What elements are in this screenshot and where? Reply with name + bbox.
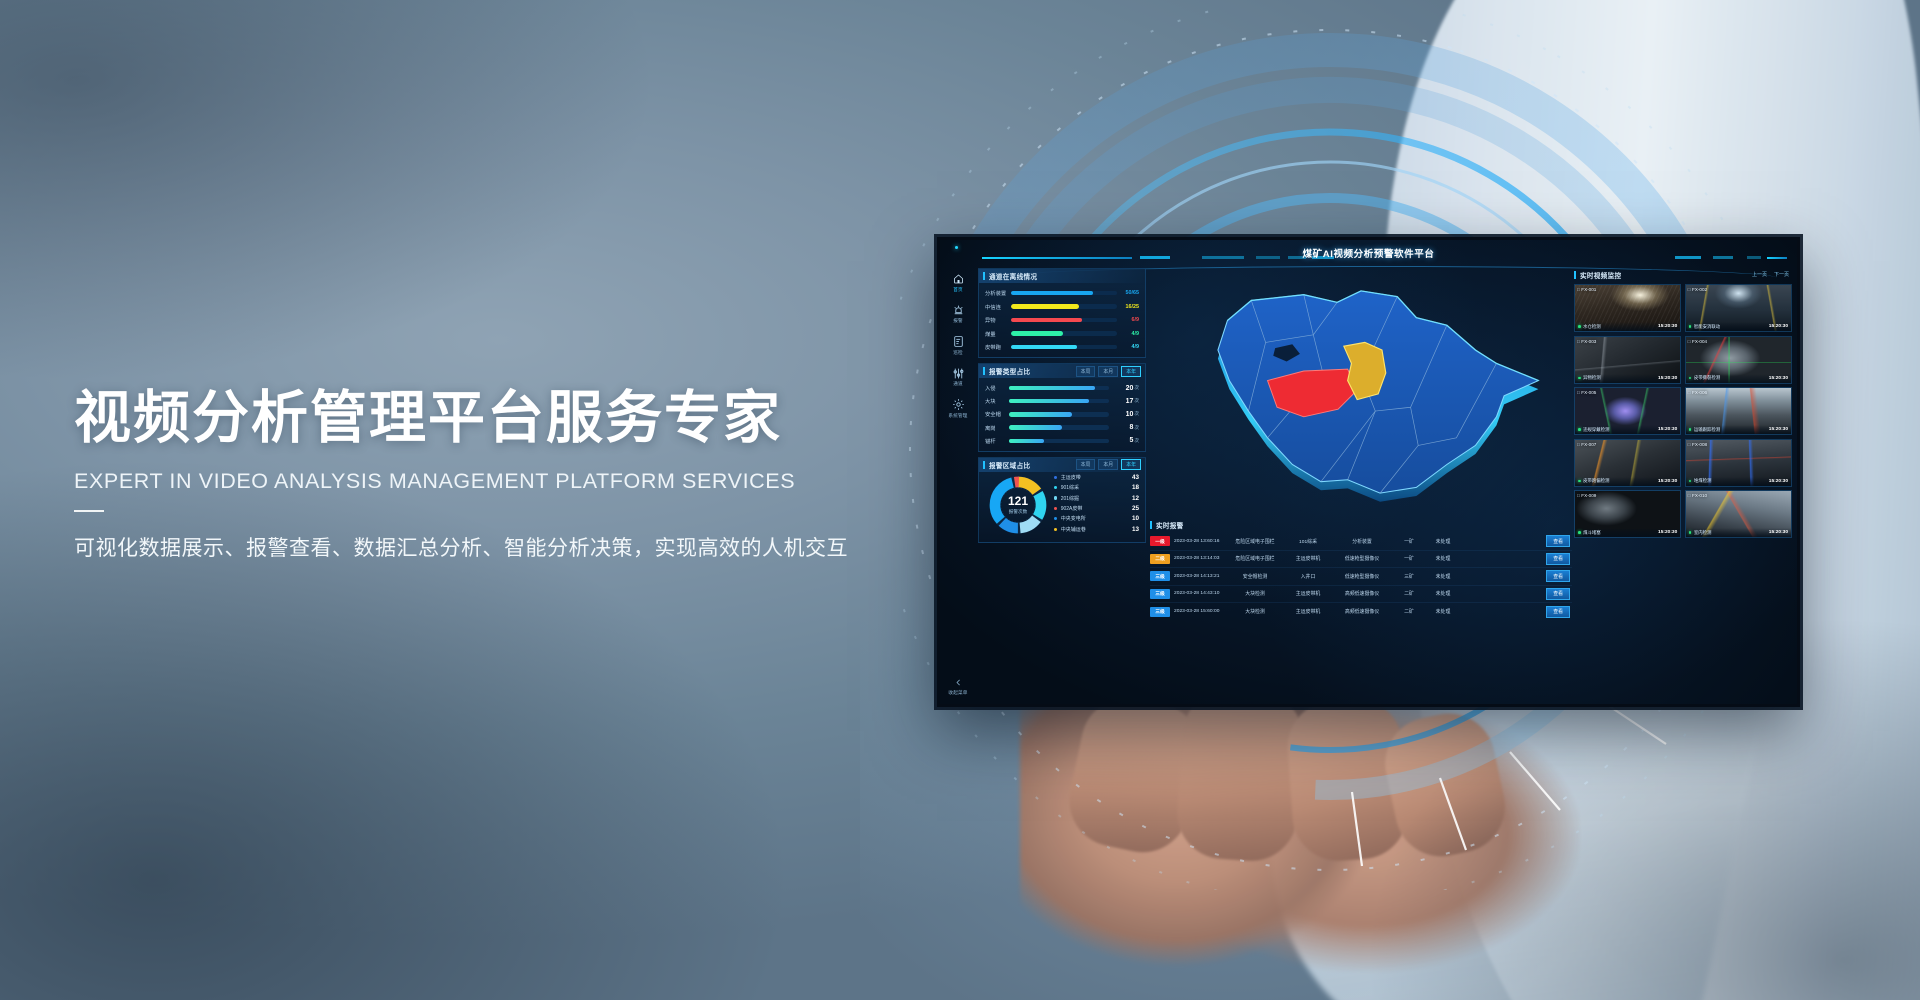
panel-accent-bar [983,461,985,469]
camera-name: 室内检测 [1694,530,1712,536]
legend-value: 10 [1125,515,1139,522]
channel-value: 16/25 [1117,304,1139,310]
camera-name: 运输跟踪检测 [1694,427,1720,433]
alarm-type-label: 离岗 [985,424,1009,432]
donut-total-value: 121 [1008,495,1028,507]
cell-type: 危险区域电子围栏 [1226,555,1284,562]
camera-id: FX-007 [1577,442,1596,447]
video-caption: 异物检测 15:20:30 [1575,374,1680,383]
video-cell[interactable]: FX-008 堆煤检测 15:20:30 [1685,439,1792,487]
prev-page-button[interactable]: 上一页 [1752,271,1767,278]
legend-dot [1054,507,1057,510]
alarm-type-track [1009,412,1109,416]
alarm-type-unit: 次 [1134,438,1139,444]
cell-device: 低速枪型摄像仪 [1332,573,1392,580]
legend-dot [1054,528,1057,531]
camera-id: FX-001 [1577,287,1596,292]
legend-item: 中央辅运巷 13 [1054,526,1139,533]
hero-divider [74,510,104,512]
cell-time: 2023-03-28 14:43:10 [1174,591,1226,596]
alarm-area-header: 报警区域占比 本周 本月 本年 [979,458,1145,472]
alarm-type-fill [1009,439,1044,443]
legend-value: 43 [1125,474,1139,481]
sidebar-item-system[interactable]: 系统管理 [940,398,976,419]
channel-value: 6/9 [1117,317,1139,323]
alarm-type-unit: 次 [1134,398,1139,404]
hero-subtitle: EXPERT IN VIDEO ANALYSIS MANAGEMENT PLAT… [74,469,934,494]
alarm-type-panel: 报警类型占比 本周 本月 本年 入侵 20 次 大块 17 [978,363,1146,452]
channel-value: 4/9 [1117,344,1139,350]
camera-name: 皮带跑偏检测 [1583,478,1609,484]
channel-label: 异物 [985,316,1011,324]
video-monitor-column: 实时视频监控 上一页 下一页 FX-001 水仓检测 15:20:30 [1574,268,1792,699]
alarm-type-row: 离岗 8 次 [985,424,1139,432]
channel-bar-track [1011,304,1117,309]
header-line-right [1767,257,1787,259]
alarm-type-fill [1009,412,1072,416]
tab-week[interactable]: 本周 [1076,366,1096,377]
alarm-type-row: 锚杆 5 次 [985,437,1139,445]
channel-bar-fill [1011,331,1063,336]
video-caption: 皮带跑偏检测 15:20:30 [1575,477,1680,486]
sidebar-item-alarm[interactable]: 报警 [940,304,976,325]
camera-name: 违规穿戴检测 [1583,427,1609,433]
online-dot [1689,480,1692,483]
camera-id: FX-003 [1577,339,1596,344]
realtime-alarm-title: 实时报警 [1156,520,1184,530]
view-button[interactable]: 查看 [1546,553,1570,565]
cell-mine: 一矿 [1392,555,1426,562]
channel-row: 中信连 16/25 [985,303,1139,311]
camera-time: 15:20:30 [1658,376,1677,381]
sidebar-label-home: 首页 [940,287,976,293]
legend-item: 201综掘 12 [1054,495,1139,502]
channel-status-panel: 通道在离线情况 分析装置 50/65 中信连 16/25 异物 6/9 [978,268,1146,358]
legend-name: 901综采 [1061,484,1125,491]
view-button[interactable]: 查看 [1546,606,1570,618]
cell-channel: 主运皮带机 [1284,590,1332,597]
sidebar-collapse-label: 收起菜单 [940,690,976,696]
inspection-clipboard-icon [940,335,976,348]
video-caption: 水仓检测 15:20:30 [1575,322,1680,331]
video-cell[interactable]: FX-009 煤斗堵塞 15:20:30 [1574,490,1681,538]
alarm-type-value: 20 [1109,385,1133,392]
alarm-area-tabs: 本周 本月 本年 [1076,459,1145,470]
sidebar-label-inspection: 巡检 [940,350,976,356]
status-badge: 二级 [1150,554,1170,564]
alarm-type-fill [1009,425,1062,429]
cell-type: 安全帽检测 [1226,573,1284,580]
video-cell[interactable]: FX-003 异物检测 15:20:30 [1574,336,1681,384]
cell-time: 2023-03-28 13:14:03 [1174,556,1226,561]
cell-device: 高频低速摄像仪 [1332,590,1392,597]
camera-time: 15:20:30 [1658,427,1677,432]
alarm-type-value: 10 [1109,411,1133,418]
realtime-alarm-table: 一级 2023-03-28 13:60:16 危险区域电子围栏 101综采 分析… [1150,533,1572,621]
legend-value: 25 [1125,505,1139,512]
legend-name: 中央辅运巷 [1061,526,1125,533]
home-icon [940,273,976,285]
tab-month[interactable]: 本月 [1098,459,1118,470]
cell-status: 未处理 [1426,573,1460,580]
alarm-type-label: 入侵 [985,384,1009,392]
online-dot [1689,377,1692,380]
dashboard-monitor: 煤矿AI视频分析预警软件平台 首页 报警 [937,237,1800,707]
dashboard-title: 煤矿AI视频分析预警软件平台 [940,246,1797,260]
header-dash-6 [1675,256,1701,259]
video-grid: FX-001 水仓检测 15:20:30 FX-002 智能安消联动 15:20… [1574,284,1792,538]
legend-value: 13 [1125,526,1139,533]
channel-bar-track [1011,331,1117,336]
camera-name: 智能安消联动 [1694,324,1720,330]
channel-bar-fill [1011,291,1093,296]
cell-channel: 主运皮带机 [1284,555,1332,562]
online-dot [1578,531,1581,534]
next-page-button[interactable]: 下一页 [1774,271,1789,278]
channel-bar-track [1011,345,1117,350]
panel-accent-bar [1574,271,1576,279]
channel-row: 皮带跑 4/9 [985,343,1139,351]
video-cell[interactable]: FX-005 违规穿戴检测 15:20:30 [1574,387,1681,435]
video-cell[interactable]: FX-001 水仓检测 15:20:30 [1574,284,1681,332]
channel-label: 皮带跑 [985,343,1011,351]
alarm-area-title: 报警区域占比 [989,460,1030,470]
cell-time: 2023-03-28 14:13:21 [1174,574,1226,579]
table-row[interactable]: 二级 2023-03-28 13:14:03 危险区域电子围栏 主运皮带机 低速… [1150,551,1572,569]
cell-mine: 三矿 [1392,573,1426,580]
channel-bar-fill [1011,304,1079,309]
channel-label: 中信连 [985,303,1011,311]
sidebar-label-channel: 通道 [940,381,976,387]
page-title: 视频分析管理平台服务专家 [74,385,934,452]
alarm-type-header: 报警类型占比 本周 本月 本年 [979,364,1145,378]
status-badge: 三级 [1150,571,1170,581]
table-row[interactable]: 一级 2023-03-28 13:60:16 危险区域电子围栏 101综采 分析… [1150,533,1572,551]
tab-month[interactable]: 本月 [1098,366,1118,377]
online-dot [1689,325,1692,328]
panel-accent-bar [983,272,985,280]
camera-name: 异物检测 [1583,375,1601,381]
panel-accent-bar [983,367,985,375]
alarm-type-row: 入侵 20 次 [985,384,1139,392]
alarm-type-unit: 次 [1134,425,1139,431]
channel-row: 煤量 4/9 [985,330,1139,338]
camera-id: FX-006 [1688,390,1707,395]
cell-device: 低速枪型摄像仪 [1332,555,1392,562]
cell-type: 危险区域电子围栏 [1226,538,1284,545]
channel-value: 4/9 [1117,331,1139,337]
cell-status: 未处理 [1426,538,1460,545]
panel-accent-bar [1150,521,1152,529]
cell-channel: 101综采 [1284,538,1332,545]
table-row[interactable]: 三级 2023-03-28 14:43:10 大块检测 主运皮带机 高频低速摄像… [1150,586,1572,604]
legend-dot [1054,517,1057,520]
sidebar-label-system: 系统管理 [940,413,976,419]
legend-name: 201综掘 [1061,495,1125,502]
alarm-type-label: 安全帽 [985,410,1009,418]
alarm-bell-icon [940,304,976,317]
camera-name: 煤斗堵塞 [1583,530,1601,536]
camera-name: 堆煤检测 [1694,478,1712,484]
camera-time: 15:20:30 [1769,427,1788,432]
alarm-type-row: 安全帽 10 次 [985,410,1139,418]
legend-item: 901综采 18 [1054,484,1139,491]
video-panel-title: 实时视频监控 [1580,270,1621,280]
video-caption: 堆煤检测 15:20:30 [1686,477,1791,486]
camera-time: 15:20:30 [1658,479,1677,484]
legend-name: 中央变电所 [1061,515,1125,522]
sidebar-item-channel[interactable]: 通道 [940,367,976,388]
camera-id: FX-010 [1688,493,1707,498]
alarm-area-panel: 报警区域占比 本周 本月 本年 [978,457,1146,543]
alarm-type-label: 大块 [985,397,1009,405]
camera-time: 15:20:30 [1769,376,1788,381]
status-badge: 三级 [1150,607,1170,617]
cell-time: 2023-03-28 15:60:00 [1174,609,1226,614]
alarm-type-track [1009,425,1109,429]
alarm-type-track [1009,439,1109,443]
legend-dot [1054,496,1057,499]
alarm-type-track [1009,386,1109,390]
video-caption: 智能安消联动 15:20:30 [1686,322,1791,331]
online-dot [1689,428,1692,431]
legend-item: 主运皮带 43 [1054,474,1139,481]
alarm-type-row: 大块 17 次 [985,397,1139,405]
alarm-type-label: 锚杆 [985,437,1009,445]
video-caption: 煤斗堵塞 15:20:30 [1575,528,1680,537]
channel-label: 煤量 [985,330,1011,338]
cell-device: 分析装置 [1332,538,1392,545]
video-cell[interactable]: FX-006 运输跟踪检测 15:20:30 [1685,387,1792,435]
online-dot [1578,428,1581,431]
video-caption: 运输跟踪检测 15:20:30 [1686,425,1791,434]
collapse-icon [954,683,963,689]
sidebar: 首页 报警 巡检 通道 [940,262,976,704]
legend-dot [1054,486,1057,489]
video-caption: 皮带撕裂检测 15:20:30 [1686,374,1791,383]
channel-bar-track [1011,318,1117,323]
camera-name: 水仓检测 [1583,324,1601,330]
channel-panel-header: 通道在离线情况 [979,269,1145,283]
online-dot [1578,325,1581,328]
dashboard-screen: 煤矿AI视频分析预警软件平台 首页 报警 [940,240,1797,704]
channel-sliders-icon [940,367,976,380]
camera-id: FX-008 [1688,442,1707,447]
alarm-type-title: 报警类型占比 [989,366,1030,376]
header-dash-8 [1747,256,1761,259]
online-dot [1578,480,1581,483]
cell-status: 未处理 [1426,608,1460,615]
video-caption: 室内检测 15:20:30 [1686,528,1791,537]
online-dot [1689,531,1692,534]
channel-value: 50/65 [1117,290,1139,296]
camera-name: 皮带撕裂检测 [1694,375,1720,381]
sidebar-item-home[interactable]: 首页 [940,273,976,293]
cell-type: 大块检测 [1226,608,1284,615]
alarm-type-value: 17 [1109,398,1133,405]
alarm-type-unit: 次 [1134,385,1139,391]
camera-id: FX-005 [1577,390,1596,395]
channel-row: 分析装置 50/65 [985,289,1139,297]
camera-id: FX-002 [1688,287,1707,292]
video-cell[interactable]: FX-002 智能安消联动 15:20:30 [1685,284,1792,332]
alarm-type-track [1009,399,1109,403]
cell-device: 高频低速摄像仪 [1332,608,1392,615]
legend-item: 902A皮带 25 [1054,505,1139,512]
center-column: 实时报警 一级 2023-03-28 13:60:16 危险区域电子围栏 101… [1150,268,1572,699]
realtime-alarm-panel: 实时报警 一级 2023-03-28 13:60:16 危险区域电子围栏 101… [1150,518,1572,699]
video-cell[interactable]: FX-004 皮带撕裂检测 15:20:30 [1685,336,1792,384]
online-dot [1578,377,1581,380]
camera-time: 15:20:30 [1769,530,1788,535]
cell-mine: 二矿 [1392,590,1426,597]
view-button[interactable]: 查看 [1546,535,1570,547]
dashboard-header: 煤矿AI视频分析预警软件平台 [940,240,1797,270]
cell-channel: 入井口 [1284,573,1332,580]
legend-name: 902A皮带 [1061,505,1125,512]
view-button[interactable]: 查看 [1546,570,1570,582]
alarm-type-fill [1009,386,1095,390]
camera-time: 15:20:30 [1769,324,1788,329]
camera-id: FX-009 [1577,493,1596,498]
cell-mine: 二矿 [1392,608,1426,615]
alarm-type-fill [1009,399,1089,403]
gear-icon [940,398,976,411]
legend-value: 12 [1125,495,1139,502]
legend-name: 主运皮带 [1061,474,1125,481]
sidebar-collapse[interactable]: 收起菜单 [940,678,976,697]
alarm-type-value: 8 [1109,424,1133,431]
cell-type: 大块检测 [1226,590,1284,597]
tab-year[interactable]: 本年 [1121,366,1141,377]
table-row[interactable]: 三级 2023-03-28 14:13:21 安全帽检测 入井口 低速枪型摄像仪… [1150,568,1572,586]
legend-dot [1054,476,1057,479]
cell-time: 2023-03-28 13:60:16 [1174,539,1226,544]
sidebar-item-inspection[interactable]: 巡检 [940,335,976,356]
channel-bar-fill [1011,345,1077,350]
legend-item: 中央变电所 10 [1054,515,1139,522]
camera-time: 15:20:30 [1658,324,1677,329]
channel-label: 分析装置 [985,289,1011,297]
status-badge: 三级 [1150,589,1170,599]
camera-id: FX-004 [1688,339,1707,344]
channel-bar-track [1011,291,1117,296]
video-panel-header: 实时视频监控 上一页 下一页 [1574,268,1792,281]
channel-panel-body: 分析装置 50/65 中信连 16/25 异物 6/9 煤量 4 [979,283,1145,357]
channel-row: 异物 6/9 [985,316,1139,324]
video-cell[interactable]: FX-007 皮带跑偏检测 15:20:30 [1574,439,1681,487]
hero-description: 可视化数据展示、报警查看、数据汇总分析、智能分析决策，实现高效的人机交互 [74,532,934,562]
alarm-type-unit: 次 [1134,411,1139,417]
cell-mine: 一矿 [1392,538,1426,545]
alarm-type-value: 5 [1109,437,1133,444]
status-badge: 一级 [1150,536,1170,546]
camera-time: 15:20:30 [1769,479,1788,484]
alarm-area-legend: 主运皮带 43 901综采 18 201综掘 12 [1049,474,1139,536]
realtime-alarm-header: 实时报警 [1150,518,1572,531]
cell-status: 未处理 [1426,590,1460,597]
cell-status: 未处理 [1426,555,1460,562]
table-row[interactable]: 三级 2023-03-28 15:60:00 大块检测 主运皮带机 高频低速摄像… [1150,603,1572,621]
tab-year[interactable]: 本年 [1121,459,1141,470]
view-button[interactable]: 查看 [1546,588,1570,600]
hero-text-block: 视频分析管理平台服务专家 EXPERT IN VIDEO ANALYSIS MA… [74,385,934,562]
alarm-area-donut: 121 报警次数 [987,474,1049,536]
region-map[interactable] [1150,268,1572,516]
donut-total-label: 报警次数 [1009,509,1027,515]
alarm-type-body: 入侵 20 次 大块 17 次 安全帽 10 次 [979,378,1145,451]
legend-value: 18 [1125,484,1139,491]
channel-panel-title: 通道在离线情况 [989,271,1037,281]
camera-time: 15:20:30 [1658,530,1677,535]
video-cell[interactable]: FX-010 室内检测 15:20:30 [1685,490,1792,538]
cell-channel: 主运皮带机 [1284,608,1332,615]
alarm-type-tabs: 本周 本月 本年 [1076,366,1145,377]
channel-bar-fill [1011,318,1082,323]
video-pagination: 上一页 下一页 [1752,271,1792,278]
video-caption: 违规穿戴检测 15:20:30 [1575,425,1680,434]
left-panel-column: 通道在离线情况 分析装置 50/65 中信连 16/25 异物 6/9 [978,268,1146,699]
tab-week[interactable]: 本周 [1076,459,1096,470]
alarm-area-body: 121 报警次数 主运皮带 43 901综采 18 [979,472,1145,542]
header-dash-7 [1713,256,1733,259]
sidebar-label-alarm: 报警 [940,318,976,324]
donut-center: 121 报警次数 [987,474,1049,536]
